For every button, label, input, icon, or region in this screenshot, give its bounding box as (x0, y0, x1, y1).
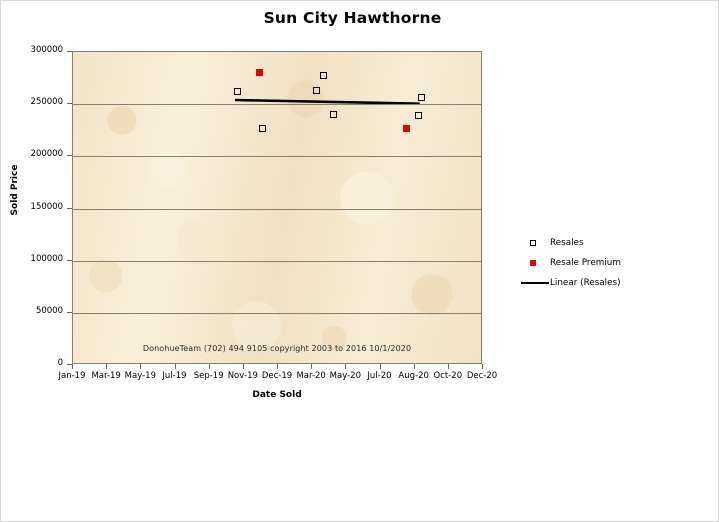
legend-item-resale-premium[interactable]: Resale Premium (520, 253, 700, 273)
x-axis-tick-mark (106, 364, 107, 369)
x-axis-tick-mark (482, 364, 483, 369)
legend-item-label: Resales (550, 238, 584, 248)
y-axis-tick-label: 50000 (1, 306, 63, 316)
x-axis-tick-label: May-20 (330, 371, 361, 381)
x-axis-tick-label: Jul-20 (367, 371, 391, 381)
x-axis-tick-mark (345, 364, 346, 369)
y-axis-tick-mark (67, 260, 72, 261)
data-point-resales (259, 125, 266, 132)
y-axis-tick-mark (67, 208, 72, 209)
y-axis-tick-label: 250000 (1, 97, 63, 107)
x-axis-tick-label: Sep-19 (194, 371, 224, 381)
legend-line-swatch-icon (520, 276, 550, 290)
x-axis-tick-mark (311, 364, 312, 369)
x-axis-tick-label: Mar-19 (91, 371, 120, 381)
data-point-resales (234, 88, 241, 95)
copyright-annotation: DonohueTeam (702) 494 9105 copyright 200… (143, 344, 411, 353)
x-axis-tick-mark (209, 364, 210, 369)
y-axis-tick-labels: 050000100000150000200000250000300000 (1, 1, 67, 522)
data-point-resales (330, 111, 337, 118)
x-axis-tick-mark (72, 364, 73, 369)
gridline (73, 261, 481, 262)
y-axis-tick-mark (67, 103, 72, 104)
y-axis-tick-mark (67, 312, 72, 313)
x-axis-tick-label: Dec-20 (467, 371, 497, 381)
x-axis-tick-mark (448, 364, 449, 369)
gridline (73, 209, 481, 210)
x-axis-tick-label: Oct-20 (434, 371, 463, 381)
x-axis-tick-label: Dec-19 (262, 371, 292, 381)
x-axis-tick-mark (243, 364, 244, 369)
legend-filled-square-icon (520, 256, 550, 270)
chart-screenshot: Sun City Hawthorne 050000100000150000200… (0, 0, 719, 522)
gridline (73, 156, 481, 157)
chart-legend: ResalesResale PremiumLinear (Resales) (520, 233, 700, 293)
data-point-resales (418, 94, 425, 101)
x-axis-tick-mark (414, 364, 415, 369)
x-axis-tick-mark (277, 364, 278, 369)
x-axis-tick-label: Aug-20 (398, 371, 428, 381)
x-axis-title: Date Sold (72, 390, 482, 400)
y-axis-tick-label: 300000 (1, 45, 63, 55)
x-axis-tick-label: Mar-20 (296, 371, 325, 381)
legend-item-label: Linear (Resales) (550, 278, 621, 288)
y-axis-tick-mark (67, 155, 72, 156)
x-axis-tick-mark (140, 364, 141, 369)
gridline (73, 313, 481, 314)
legend-item-resales[interactable]: Resales (520, 233, 700, 253)
chart-title: Sun City Hawthorne (0, 9, 712, 27)
data-point-resales (313, 87, 320, 94)
plot-area: DonohueTeam (702) 494 9105 copyright 200… (72, 51, 482, 364)
x-axis-tick-label: Jul-19 (162, 371, 186, 381)
legend-item-linear-resales[interactable]: Linear (Resales) (520, 273, 700, 293)
data-point-resales (320, 72, 327, 79)
x-axis-tick-label: May-19 (125, 371, 156, 381)
y-axis-tick-label: 0 (1, 358, 63, 368)
x-axis-tick-mark (175, 364, 176, 369)
x-axis-tick-label: Nov-19 (228, 371, 258, 381)
y-axis-tick-mark (67, 51, 72, 52)
data-point-resale-premium (256, 69, 263, 76)
data-point-resales (415, 112, 422, 119)
legend-item-label: Resale Premium (550, 258, 621, 268)
legend-open-square-icon (520, 236, 550, 250)
x-axis-tick-mark (380, 364, 381, 369)
gridline (73, 104, 481, 105)
x-axis-tick-label: Jan-19 (59, 371, 86, 381)
y-axis-title: Sold Price (10, 150, 20, 230)
y-axis-tick-label: 100000 (1, 254, 63, 264)
data-point-resale-premium (403, 125, 410, 132)
